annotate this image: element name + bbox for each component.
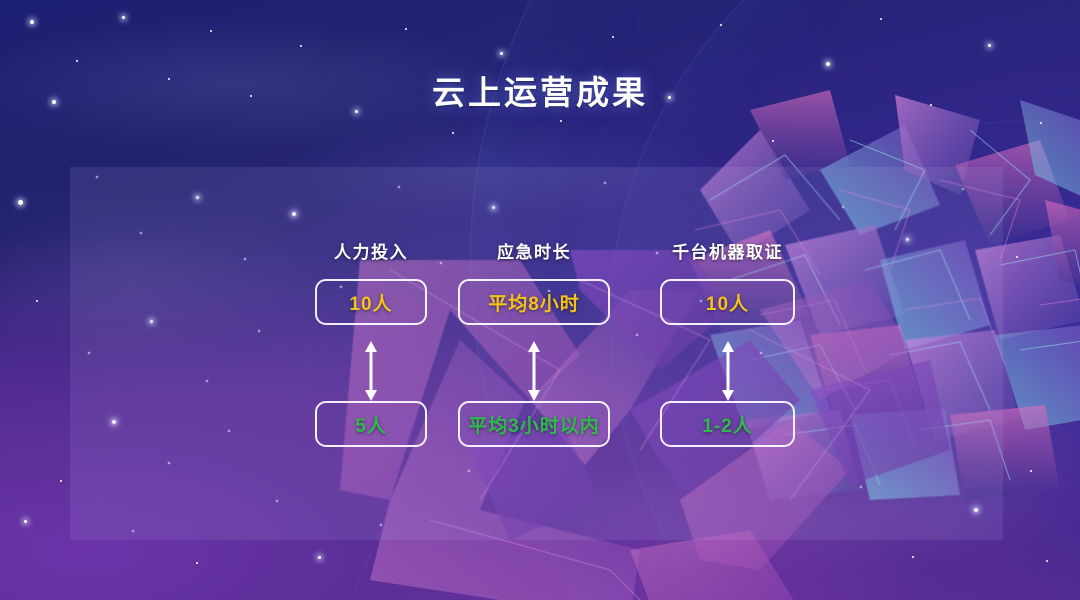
metric-before-box-2[interactable]: 平均8小时 <box>458 279 610 325</box>
metric-connector-arrow-1 <box>363 341 379 401</box>
metric-before-box-3[interactable]: 10人 <box>660 279 795 325</box>
metric-column-1: 人力投入 10人 5人 <box>315 238 427 325</box>
metric-column-2: 应急时长 平均8小时 平均3小时以内 <box>458 238 610 325</box>
metric-column-3: 千台机器取证 10人 1-2人 <box>660 238 795 325</box>
metric-connector-arrow-3 <box>720 341 736 401</box>
metric-label-1: 人力投入 <box>315 238 427 263</box>
slide-stage: 云上运营成果 人力投入 10人 5人 应急时长 平均8小时 <box>0 0 1080 600</box>
metric-label-3: 千台机器取证 <box>660 238 795 263</box>
metric-before-box-1[interactable]: 10人 <box>315 279 427 325</box>
metric-label-2: 应急时长 <box>458 238 610 263</box>
metric-after-box-1[interactable]: 5人 <box>315 401 427 447</box>
metrics-columns: 人力投入 10人 5人 应急时长 平均8小时 平 <box>0 0 1080 600</box>
metric-after-box-2[interactable]: 平均3小时以内 <box>458 401 610 447</box>
metric-after-box-3[interactable]: 1-2人 <box>660 401 795 447</box>
metric-connector-arrow-2 <box>526 341 542 401</box>
